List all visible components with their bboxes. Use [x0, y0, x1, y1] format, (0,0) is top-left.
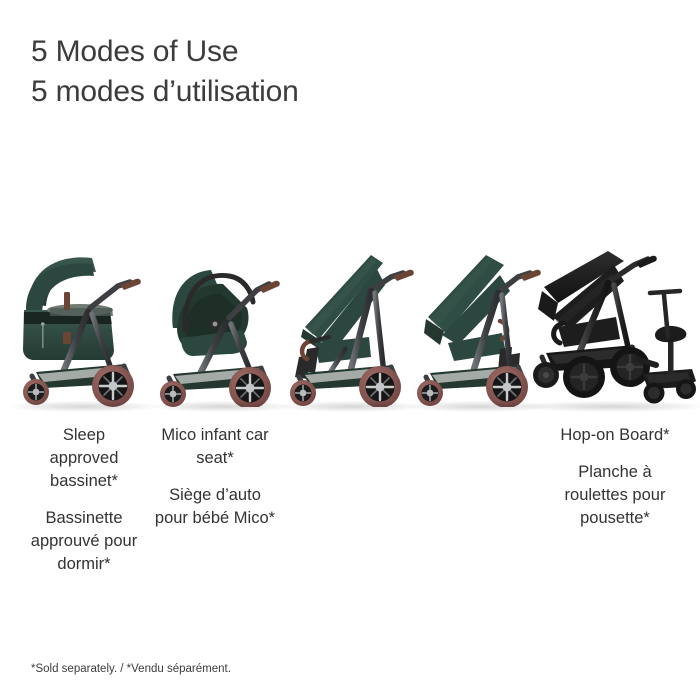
board-saddle-post	[668, 337, 674, 375]
bassinet-illustration	[14, 232, 154, 407]
product-shadow	[280, 401, 426, 412]
caption-hop-on-board-en: Hop-on Board*	[558, 424, 672, 447]
caption-infant-car-seat-en: Mico infant car seat*	[152, 424, 278, 470]
product-shadow	[150, 401, 296, 412]
product-shadow	[517, 401, 700, 412]
caption-hop-on-board-fr: Planche à roulettes pour pousette*	[558, 461, 672, 530]
product-bassinet	[14, 232, 154, 407]
promo-page: 5 Modes of Use 5 modes d’utilisation	[0, 0, 700, 700]
product-row	[0, 222, 700, 407]
page-title: 5 Modes of Use 5 modes d’utilisation	[31, 32, 299, 112]
footnote: *Sold separately. / *Vendu séparément.	[31, 662, 231, 676]
product-seat-forward	[285, 229, 420, 407]
board-saddle	[655, 326, 686, 342]
product-shadow	[8, 401, 159, 412]
caption-bassinet-fr: Bassinette approuvé pour dormir*	[28, 507, 140, 576]
product-hop-on-board	[524, 225, 700, 407]
product-infant-car-seat	[155, 232, 290, 407]
caption-hop-on-board: Hop-on Board* Planche à roulettes pour p…	[558, 424, 672, 530]
infant-car-seat-illustration	[155, 232, 290, 407]
caption-bassinet: Sleep approved bassinet* Bassinette appr…	[28, 424, 140, 576]
caption-bassinet-en: Sleep approved bassinet*	[28, 424, 140, 493]
forward-facing-seat-illustration	[285, 229, 420, 407]
board-handle-bar	[650, 291, 680, 293]
caption-infant-car-seat: Mico infant car seat* Siège d’auto pour …	[152, 424, 278, 530]
caption-infant-car-seat-fr: Siège d’auto pour bébé Mico*	[152, 484, 278, 530]
hop-on-board-illustration	[524, 225, 700, 407]
page-title-fr: 5 modes d’utilisation	[31, 72, 299, 112]
page-title-en: 5 Modes of Use	[31, 32, 299, 72]
